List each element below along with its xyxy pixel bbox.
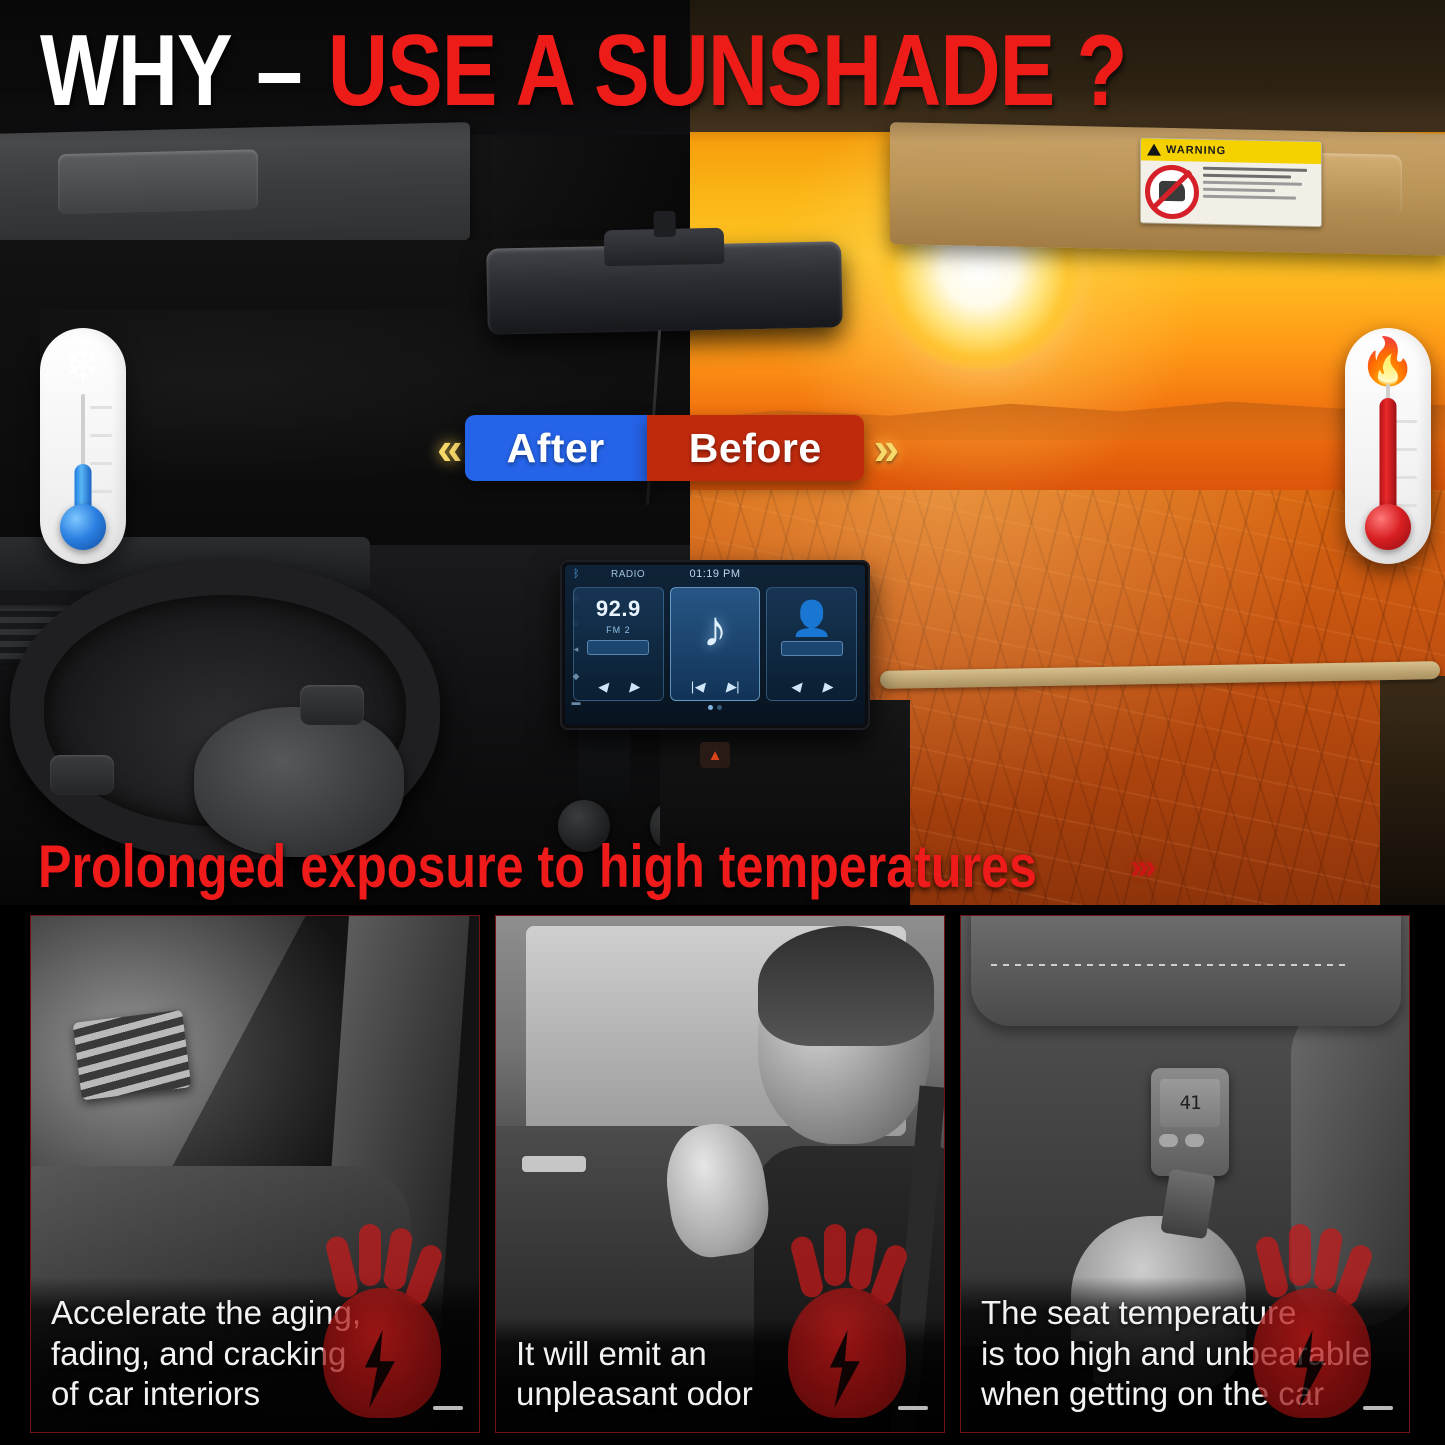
media-next-icon[interactable]: ▶| bbox=[726, 679, 739, 695]
caption-line: is too high and unbearable bbox=[981, 1334, 1389, 1374]
radio-preset-chip[interactable] bbox=[587, 640, 649, 655]
warning-text-lines bbox=[1203, 162, 1321, 226]
infrared-thermometer: 41 bbox=[1151, 1068, 1229, 1176]
before-badge: Before bbox=[647, 415, 864, 481]
steering-wheel bbox=[10, 561, 440, 861]
dashboard-right bbox=[1380, 676, 1445, 905]
panel-caption: Accelerate the aging, fading, and cracki… bbox=[31, 1277, 479, 1432]
clock-label: 01:19 PM bbox=[689, 568, 740, 580]
panel-hot-seat: 41 The seat temperature is too high and … bbox=[960, 915, 1410, 1433]
panel-dash-marker bbox=[1363, 1406, 1393, 1410]
phone-card[interactable]: 👤 ◀ ▶ bbox=[766, 587, 857, 701]
warning-sticker-body bbox=[1141, 160, 1321, 226]
benefit-panels: Accelerate the aging, fading, and cracki… bbox=[0, 905, 1445, 1445]
panel-caption: The seat temperature is too high and unb… bbox=[961, 1277, 1409, 1432]
panel-caption: It will emit an unpleasant odor bbox=[496, 1318, 944, 1433]
infographic-page: WARNING bbox=[0, 0, 1445, 1445]
title-phrase-red: USE A SUNSHADE ? bbox=[328, 14, 1127, 127]
panel-dash-marker bbox=[433, 1406, 463, 1410]
title-band: WHY – USE A SUNSHADE ? bbox=[0, 0, 1445, 142]
page-indicator-dots[interactable] bbox=[565, 701, 865, 710]
contact-person-icon: 👤 bbox=[791, 602, 833, 636]
phone-chip[interactable] bbox=[781, 641, 843, 656]
infotainment-screen[interactable]: ◌ ◌ ◂ ◆ ▬ ᛒ RADIO 01:19 PM 92.9 FM 2 bbox=[565, 565, 865, 725]
radio-frequency: 92.9 bbox=[596, 596, 641, 622]
thermometer-buttons[interactable] bbox=[1159, 1134, 1204, 1147]
phone-prev-icon[interactable]: ◀ bbox=[791, 679, 801, 695]
bluetooth-icon: ᛒ bbox=[573, 568, 580, 580]
home-icon[interactable]: ◌ bbox=[573, 618, 578, 628]
infotainment-head-unit[interactable]: ◌ ◌ ◂ ◆ ▬ ᛒ RADIO 01:19 PM 92.9 FM 2 bbox=[560, 560, 870, 730]
panel-unpleasant-odor: It will emit an unpleasant odor bbox=[495, 915, 945, 1433]
hazard-light-button[interactable]: ▲ bbox=[700, 742, 730, 768]
caption-line: unpleasant odor bbox=[516, 1374, 924, 1414]
dot-active[interactable] bbox=[708, 705, 713, 710]
child-seat-glyph bbox=[1159, 181, 1185, 202]
dashboard-vent-closeup bbox=[73, 1010, 192, 1101]
radio-seek-controls[interactable]: ◀ ▶ bbox=[597, 679, 639, 700]
snowflake-icon: ❄ bbox=[64, 342, 103, 388]
caption-line: when getting on the car bbox=[981, 1374, 1389, 1414]
title-dash: – bbox=[252, 14, 305, 127]
phone-next-icon[interactable]: ▶ bbox=[823, 679, 833, 695]
caption-line: The seat temperature bbox=[981, 1293, 1389, 1333]
rearview-mirror bbox=[486, 241, 843, 334]
page-title: WHY – USE A SUNSHADE ? bbox=[40, 20, 1127, 121]
seek-next-icon[interactable]: ▶ bbox=[629, 679, 639, 695]
media-transport-controls[interactable]: |◀ ▶| bbox=[691, 679, 740, 700]
media-card[interactable]: ♪ |◀ ▶| bbox=[670, 587, 761, 701]
eject-icon[interactable]: ▬ bbox=[572, 697, 581, 707]
left-chevron-icon: « bbox=[427, 425, 465, 471]
caption-line: fading, and cracking bbox=[51, 1334, 459, 1374]
panel-dash-marker bbox=[898, 1406, 928, 1410]
tagline-text: Prolonged exposure to high temperatures bbox=[38, 837, 1037, 897]
cold-thermometer: ❄ bbox=[40, 328, 126, 564]
infotainment-side-buttons[interactable]: ◌ ◌ ◂ ◆ ▬ bbox=[565, 585, 587, 715]
panel-interior-aging: Accelerate the aging, fading, and cracki… bbox=[30, 915, 480, 1433]
power-icon[interactable]: ◌ bbox=[573, 593, 578, 603]
mirror-stem bbox=[653, 211, 676, 237]
radio-band: FM 2 bbox=[606, 625, 631, 635]
infotainment-status-bar: ᛒ RADIO 01:19 PM bbox=[565, 565, 865, 583]
tagline-chevrons-icon: ››› bbox=[1130, 848, 1152, 887]
prohibition-circle-icon bbox=[1145, 164, 1199, 219]
caption-line: Accelerate the aging, bbox=[51, 1293, 459, 1333]
no-child-seat-pictogram bbox=[1141, 160, 1203, 223]
warning-triangle-icon bbox=[1147, 144, 1161, 156]
thermometer-display: 41 bbox=[1160, 1079, 1220, 1127]
dot-inactive[interactable] bbox=[717, 705, 722, 710]
after-badge: After bbox=[465, 415, 647, 481]
steering-control-right bbox=[300, 685, 364, 725]
steering-control-left bbox=[50, 755, 114, 795]
right-chevron-icon: » bbox=[864, 425, 902, 471]
volume-icon[interactable]: ◂ bbox=[574, 644, 579, 655]
thermometer-reading: 41 bbox=[1180, 1092, 1201, 1114]
infotainment-cards: 92.9 FM 2 ◀ ▶ ♪ |◀ ▶| bbox=[565, 583, 865, 701]
visor-mirror-cover-left bbox=[58, 149, 258, 214]
title-word-why: WHY bbox=[40, 14, 230, 127]
flame-icon: 🔥 bbox=[1359, 338, 1416, 384]
sun-visor-right: WARNING bbox=[890, 122, 1445, 256]
thermometer-bulb-hot bbox=[1365, 504, 1411, 550]
seek-prev-icon[interactable]: ◀ bbox=[597, 679, 607, 695]
caption-line: of car interiors bbox=[51, 1374, 459, 1414]
before-after-badges: « After Before » bbox=[427, 415, 901, 481]
phone-nav-controls[interactable]: ◀ ▶ bbox=[791, 679, 833, 700]
music-note-icon: ♪ bbox=[703, 604, 728, 654]
menu-icon[interactable]: ◆ bbox=[573, 671, 580, 682]
media-prev-icon[interactable]: |◀ bbox=[691, 679, 704, 695]
caption-line: It will emit an bbox=[516, 1334, 924, 1374]
infotainment-mount bbox=[578, 728, 630, 800]
thermometer-bulb-cold bbox=[60, 504, 106, 550]
tagline: Prolonged exposure to high temperatures … bbox=[38, 840, 1152, 894]
warning-heading: WARNING bbox=[1166, 144, 1226, 157]
source-label: RADIO bbox=[611, 569, 645, 580]
visor-warning-sticker: WARNING bbox=[1140, 137, 1322, 227]
hero-comparison: WARNING bbox=[0, 0, 1445, 905]
hot-thermometer: 🔥 bbox=[1345, 328, 1431, 564]
